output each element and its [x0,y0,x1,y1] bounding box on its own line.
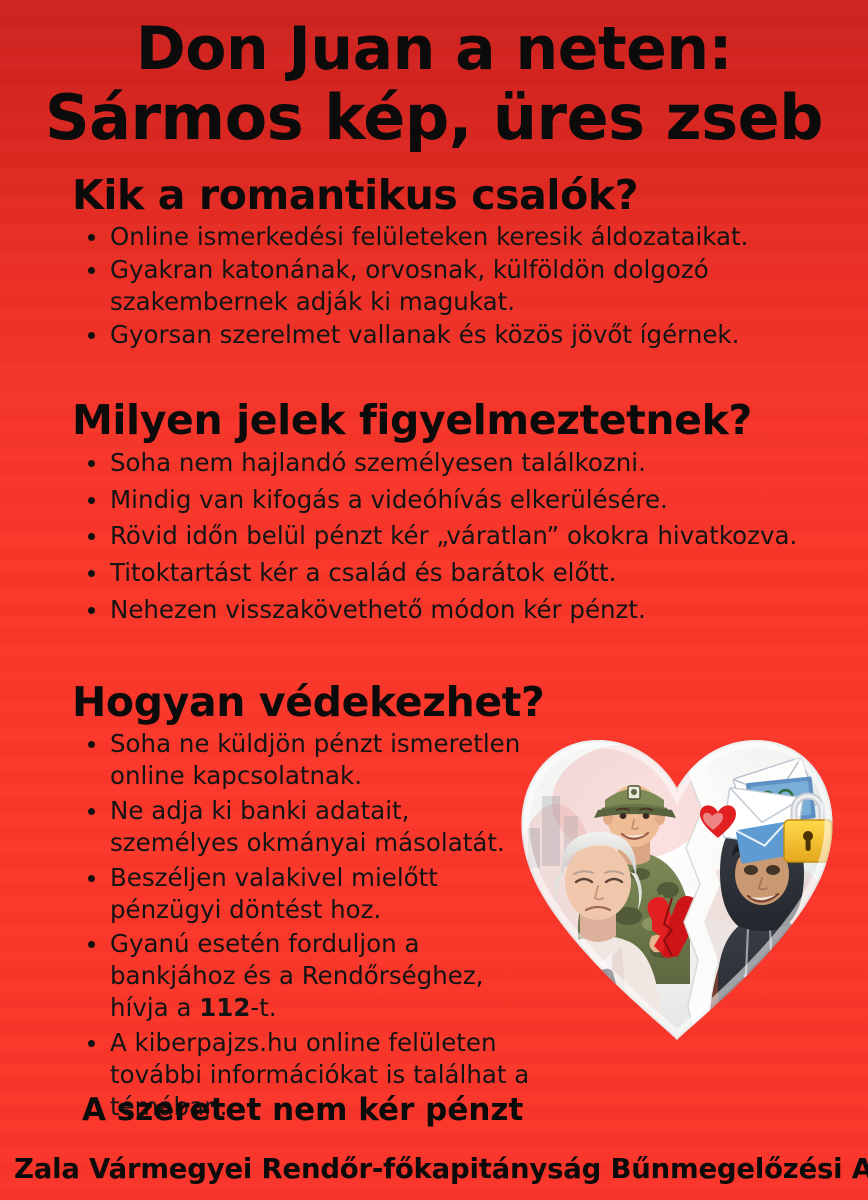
list-item: Nehezen visszakövethető módon kér pénzt. [0,594,868,626]
footer-slogan: A szeretet nem kér pénzt [0,1092,868,1129]
list-item: Mindig van kifogás a videóhívás elkerülé… [0,484,868,516]
list-item: Soha nem hajlandó személyesen találkozni… [0,447,868,479]
emergency-number: 112 [199,993,250,1022]
title-line-2: Sármos kép, üres zseb [0,83,868,152]
poster-footer: A szeretet nem kér pénzt Zala Vármegyei … [0,1092,868,1200]
list-item: Gyakran katonának, orvosnak, külföldön d… [0,254,868,318]
section-2-heading: Milyen jelek figyelmeztetnek? [0,396,868,444]
section-1-bullet-list: Online ismerkedési felületeken keresik á… [0,221,868,350]
list-item: Online ismerkedési felületeken keresik á… [0,221,868,253]
heart-illustration-svg [512,724,842,1044]
list-item: Rövid időn belül pénzt kér „váratlan” ok… [0,520,868,552]
section-3-heading: Hogyan védekezhet? [0,678,868,726]
section-who-are-romance-scammers: Kik a romantikus csalók? Online ismerked… [0,171,868,351]
poster-title: Don Juan a neten: Sármos kép, üres zseb [0,0,868,153]
list-item: Gyorsan szerelmet vallanak és közös jövő… [0,319,868,351]
heart-clip-group [512,724,842,1044]
section-2-bullet-list: Soha nem hajlandó személyesen találkozni… [0,447,868,626]
list-item: Titoktartást kér a család és barátok elő… [0,557,868,589]
section-warning-signs: Milyen jelek figyelmeztetnek? Soha nem h… [0,396,868,626]
broken-heart-romance-scam-illustration [512,724,842,1044]
section-1-heading: Kik a romantikus csalók? [0,171,868,219]
footer-organisation: Zala Vármegyei Rendőr-főkapitányság Bűnm… [0,1153,868,1200]
poster-root: Don Juan a neten: Sármos kép, üres zseb … [0,0,868,1200]
title-line-1: Don Juan a neten: [0,16,868,83]
